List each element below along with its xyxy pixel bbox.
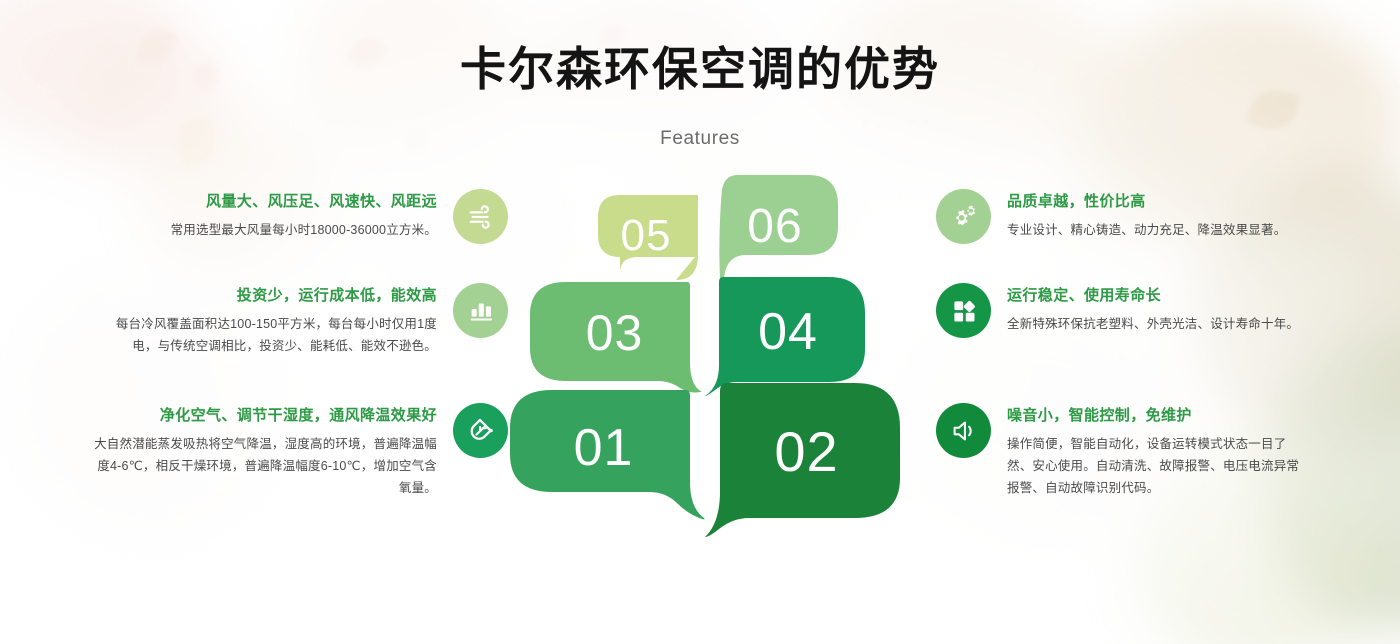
- feature-item-02[interactable]: 噪音小，智能控制，免维护 操作简便，智能自动化，设备运转模式状态一目了然、安心使…: [936, 406, 1356, 499]
- leaf-number-02: 02: [705, 383, 900, 538]
- leaf-number-06: 06: [708, 175, 838, 285]
- feature-body-03: 每台冷风覆盖面积达100-150平方米，每台每小时仅用1度电，与传统空调相比，投…: [97, 313, 437, 358]
- feature-heading-02: 噪音小，智能控制，免维护: [1007, 406, 1192, 426]
- feature-body-04: 全新特殊环保抗老塑料、外壳光洁、设计寿命十年。: [1007, 313, 1299, 335]
- leaf-05[interactable]: 05: [598, 195, 698, 280]
- feature-body-01: 大自然潜能蒸发吸热将空气降温，湿度高的环境，普遍降温幅度4-6℃，相反干燥环境，…: [87, 433, 437, 500]
- page-title: 卡尔森环保空调的优势: [0, 42, 1400, 96]
- feature-heading-06: 品质卓越，性价比高: [1007, 192, 1146, 212]
- infographic-page: 卡尔森环保空调的优势 Features 风量大、风压足、风速快、风距远 常用选型…: [0, 0, 1400, 644]
- leaf-04[interactable]: 04: [705, 277, 865, 399]
- speaker-volume-icon: [936, 403, 991, 458]
- feature-body-05: 常用选型最大风量每小时18000-36000立方米。: [171, 219, 437, 241]
- leaf-06[interactable]: 06: [708, 175, 838, 285]
- feature-body-06: 专业设计、精心铸造、动力充足、降温效果显著。: [1007, 219, 1286, 241]
- feature-text-01: 净化空气、调节干湿度，通风降温效果好 大自然潜能蒸发吸热将空气降温，湿度高的环境…: [87, 406, 437, 499]
- leaf-03[interactable]: 03: [530, 282, 705, 394]
- leaf-01[interactable]: 01: [510, 390, 705, 520]
- feature-item-05[interactable]: 风量大、风压足、风速快、风距远 常用选型最大风量每小时18000-36000立方…: [60, 192, 508, 244]
- feature-body-02: 操作简便，智能自动化，设备运转模式状态一目了然、安心使用。自动清洗、故障报警、电…: [1007, 433, 1307, 500]
- feature-heading-04: 运行稳定、使用寿命长: [1007, 286, 1161, 306]
- feature-item-03[interactable]: 投资少，运行成本低，能效高 每台冷风覆盖面积达100-150平方米，每台每小时仅…: [60, 286, 508, 357]
- feature-heading-03: 投资少，运行成本低，能效高: [237, 286, 437, 306]
- feature-text-02: 噪音小，智能控制，免维护 操作简便，智能自动化，设备运转模式状态一目了然、安心使…: [1007, 406, 1307, 499]
- leaf-number-03: 03: [530, 282, 705, 394]
- leaf-cluster: 05 06 03 04: [500, 175, 900, 555]
- leaf-number-04: 04: [705, 277, 865, 399]
- page-subtitle: Features: [0, 128, 1400, 150]
- feature-text-03: 投资少，运行成本低，能效高 每台冷风覆盖面积达100-150平方米，每台每小时仅…: [97, 286, 437, 357]
- leaf-number-05: 05: [598, 195, 698, 280]
- feature-text-04: 运行稳定、使用寿命长 全新特殊环保抗老塑料、外壳光洁、设计寿命十年。: [1007, 286, 1299, 335]
- feature-text-06: 品质卓越，性价比高 专业设计、精心铸造、动力充足、降温效果显著。: [1007, 192, 1286, 241]
- blocks-icon: [936, 283, 991, 338]
- leaf-number-01: 01: [510, 390, 705, 520]
- feature-item-04[interactable]: 运行稳定、使用寿命长 全新特殊环保抗老塑料、外壳光洁、设计寿命十年。: [936, 286, 1356, 338]
- leaf-02[interactable]: 02: [705, 383, 900, 538]
- feature-heading-01: 净化空气、调节干湿度，通风降温效果好: [160, 406, 437, 426]
- feature-item-01[interactable]: 净化空气、调节干湿度，通风降温效果好 大自然潜能蒸发吸热将空气降温，湿度高的环境…: [60, 406, 508, 499]
- gears-icon: [936, 189, 991, 244]
- feature-item-06[interactable]: 品质卓越，性价比高 专业设计、精心铸造、动力充足、降温效果显著。: [936, 192, 1356, 244]
- content-layer: 卡尔森环保空调的优势 Features 风量大、风压足、风速快、风距远 常用选型…: [0, 0, 1400, 644]
- feature-text-05: 风量大、风压足、风速快、风距远 常用选型最大风量每小时18000-36000立方…: [171, 192, 437, 241]
- feature-heading-05: 风量大、风压足、风速快、风距远: [206, 192, 437, 212]
